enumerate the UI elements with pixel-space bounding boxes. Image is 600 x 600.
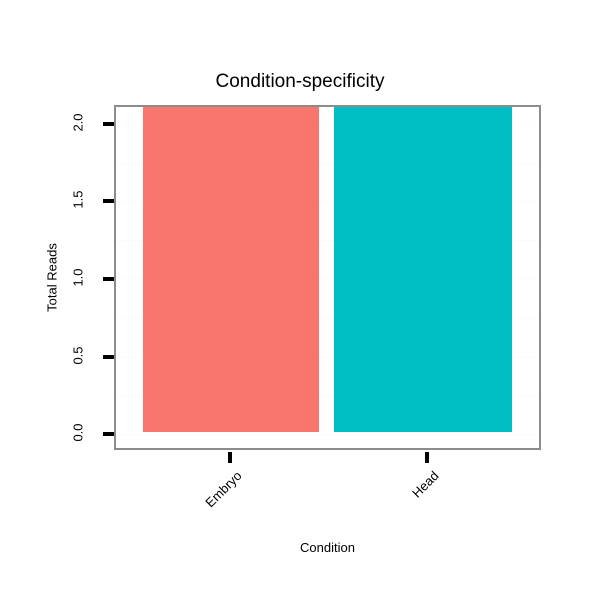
x-tick-label-head: Head (391, 468, 441, 518)
y-tick-mark-0-5 (103, 355, 114, 359)
y-tick-mark-1-5 (103, 199, 114, 203)
y-tick-label-1-5: 1.5 (71, 180, 86, 220)
y-tick-label-wrap-1-0: 1.0 (58, 270, 98, 286)
plot-panel (114, 105, 541, 450)
chart-figure: Condition-specificity 0.0 0.5 1.0 1.5 2.… (0, 0, 600, 600)
bar-embryo (143, 105, 319, 432)
y-tick-label-wrap-2-0: 2.0 (58, 115, 98, 131)
y-tick-label-0-5: 0.5 (71, 336, 86, 376)
y-tick-mark-1-0 (103, 277, 114, 281)
y-tick-label-2-0: 2.0 (71, 103, 86, 143)
gridline-major-0-0 (116, 434, 539, 435)
y-tick-label-0-0: 0.0 (71, 413, 86, 453)
chart-title: Condition-specificity (0, 70, 600, 94)
x-axis-title: Condition (114, 540, 541, 555)
x-tick-label-embryo: Embryo (187, 468, 244, 525)
x-tick-mark-head (425, 452, 429, 463)
y-tick-label-wrap-0-0: 0.0 (58, 425, 98, 441)
x-tick-mark-embryo (228, 452, 232, 463)
y-tick-mark-2-0 (103, 122, 114, 126)
y-tick-label-wrap-0-5: 0.5 (58, 348, 98, 364)
y-tick-label-1-0: 1.0 (71, 258, 86, 298)
bar-head (334, 105, 512, 432)
y-tick-mark-0-0 (103, 432, 114, 436)
y-tick-label-wrap-1-5: 1.5 (58, 192, 98, 208)
y-axis-title: Total Reads (45, 216, 60, 340)
